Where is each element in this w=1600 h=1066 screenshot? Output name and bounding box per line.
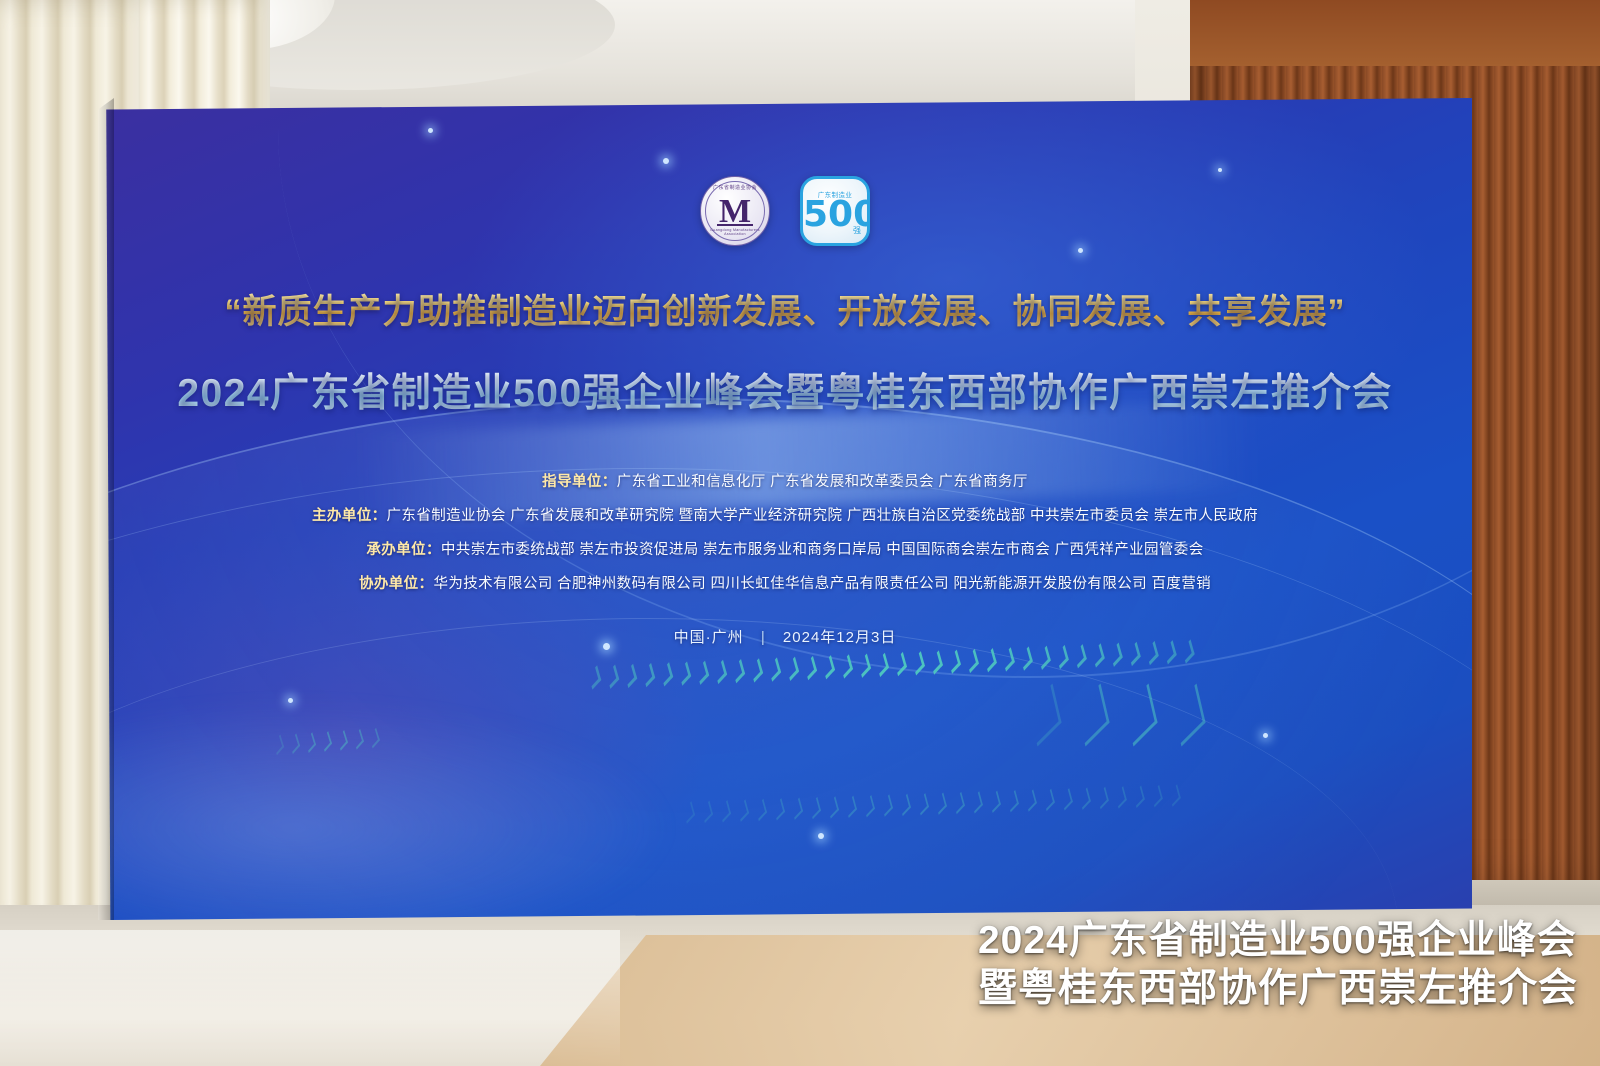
chevron-icon <box>917 793 929 815</box>
chevron-wrap <box>729 662 747 680</box>
chevron-icon <box>1002 647 1015 671</box>
chevron-icon <box>953 792 965 814</box>
chevron-icon <box>1124 683 1157 746</box>
chevron-wrap <box>837 657 855 675</box>
chevron-wrap <box>586 668 604 686</box>
backdrop-board-left-edge <box>98 98 114 920</box>
chevron-icon <box>678 661 691 685</box>
organizer-value: 中共崇左市委统战部 崇左市投资促进局 崇左市服务业和商务口岸局 中国国际商会崇左… <box>441 542 1204 558</box>
chevron-wrap <box>986 793 1003 810</box>
chevron-wrap <box>909 654 927 672</box>
chevron-icon <box>1043 789 1055 811</box>
chevron-wrap <box>681 804 698 821</box>
chevron-wrap <box>915 796 932 813</box>
chevron-row-large <box>1028 698 1206 732</box>
spark-dot <box>1078 248 1083 253</box>
chevron-wrap <box>676 664 694 682</box>
organizer-line: 协办单位：华为技术有限公司 合肥神州数码有限公司 四川长虹佳华信息产品有限责任公… <box>98 572 1472 593</box>
organizer-label: 协办单位： <box>359 576 434 592</box>
chevron-wrap <box>1017 649 1035 667</box>
chevron-wrap <box>963 652 981 670</box>
chevron-icon <box>827 796 839 818</box>
chevron-wrap <box>622 667 640 685</box>
chevron-icon <box>822 655 835 679</box>
organizer-label: 指导单位： <box>542 474 617 490</box>
chevron-icon <box>732 659 745 683</box>
chevron-wrap <box>855 656 873 674</box>
chevron-icon <box>912 651 925 675</box>
chevron-wrap <box>1022 792 1039 809</box>
organizer-label: 主办单位： <box>312 508 387 524</box>
chevron-wrap <box>1130 788 1147 805</box>
chevron-icon <box>1115 786 1127 808</box>
chevron-icon <box>971 791 983 813</box>
chevron-icon <box>660 662 673 686</box>
caption-line-1: 2024广东省制造业500强企业峰会 <box>978 917 1578 966</box>
chevron-wrap <box>1148 788 1165 805</box>
chevron-wrap <box>1107 646 1125 664</box>
spark-dot <box>1218 168 1222 172</box>
chevron-wrap <box>861 798 878 815</box>
organizer-line: 主办单位：广东省制造业协会 广东省发展和改革研究院 暨南大学产业经济研究院 广西… <box>98 504 1472 525</box>
chevron-wrap <box>1112 789 1129 806</box>
chevron-icon <box>1133 786 1145 808</box>
chevron-wrap <box>658 665 676 683</box>
event-title: 2024广东省制造业500强企业峰会暨粤桂东西部协作广西崇左推介会 <box>98 362 1472 418</box>
chevron-wrap <box>789 800 806 817</box>
event-location: 中国·广州 <box>674 629 744 646</box>
chevron-icon <box>930 650 943 674</box>
chevron-icon <box>1172 683 1205 746</box>
chevron-icon <box>1056 645 1069 669</box>
chevron-icon <box>791 797 803 819</box>
chevron-icon <box>719 800 731 822</box>
chevron-wrap <box>951 795 968 812</box>
chevron-icon <box>773 798 785 820</box>
organizer-value: 华为技术有限公司 合肥神州数码有限公司 四川长虹佳华信息产品有限责任公司 阳光新… <box>433 576 1211 592</box>
chevron-wrap <box>699 803 716 820</box>
chevron-wrap <box>897 796 914 813</box>
chevron-wrap <box>1125 645 1143 663</box>
chevron-wrap <box>1094 790 1111 807</box>
chevron-wrap <box>801 659 819 677</box>
chevron-icon <box>840 654 853 678</box>
chevron-icon <box>1007 790 1019 812</box>
chevron-icon <box>894 652 907 676</box>
glow-bottom-left <box>98 698 678 920</box>
chevron-wrap <box>981 651 999 669</box>
spark-dot <box>428 128 433 133</box>
organizer-value: 广东省制造业协会 广东省发展和改革研究院 暨南大学产业经济研究院 广西壮族自治区… <box>387 508 1258 524</box>
chevron-wrap <box>771 801 788 818</box>
event-slogan: “新质生产力助推制造业迈向创新发展、开放发展、协同发展、共享发展” <box>98 284 1472 333</box>
chevron-wrap <box>1035 649 1053 667</box>
guangdong-manufacturers-association-logo-icon: 广东省制造业协会 M Guangdong Manufacturers Assoc… <box>700 176 770 246</box>
chevron-wrap <box>753 801 770 818</box>
wood-wall-header <box>1190 0 1600 66</box>
chevron-wrap <box>1004 793 1021 810</box>
chevron-icon <box>1151 785 1163 807</box>
chevron-wrap <box>640 666 658 684</box>
chevron-wrap <box>1021 691 1069 739</box>
organizer-label: 承办单位： <box>366 542 441 558</box>
chevron-wrap <box>1053 648 1071 666</box>
spark-dot <box>818 833 824 839</box>
chevron-wrap <box>1165 691 1213 739</box>
chevron-icon <box>714 660 727 684</box>
logo-divider <box>717 224 753 226</box>
chevron-icon <box>899 794 911 816</box>
chevron-wrap <box>999 650 1017 668</box>
chevron-icon <box>737 799 749 821</box>
chevron-wrap <box>807 800 824 817</box>
chevron-icon <box>948 650 961 674</box>
organizer-value: 广东省工业和信息化厅 广东省发展和改革委员会 广东省商务厅 <box>617 474 1028 490</box>
chevron-wrap <box>1117 691 1165 739</box>
chevron-wrap <box>945 653 963 671</box>
floor-reflection <box>0 930 620 1066</box>
chevron-wrap <box>783 660 801 678</box>
spark-dot <box>1263 733 1268 738</box>
caption-line-2: 暨粤桂东西部协作广西崇左推介会 <box>978 965 1578 1014</box>
chevron-icon <box>786 657 799 681</box>
chevron-wrap <box>1166 787 1183 804</box>
chevron-icon <box>1038 646 1051 670</box>
chevron-wrap <box>933 795 950 812</box>
chevron-icon <box>1076 683 1109 746</box>
event-location-date: 中国·广州 | 2024年12月3日 <box>98 626 1472 647</box>
chevron-wrap <box>873 656 891 674</box>
chevron-icon <box>858 653 871 677</box>
chevron-icon <box>989 791 1001 813</box>
chevron-icon <box>1028 683 1061 746</box>
chevron-wrap <box>747 661 765 679</box>
chevron-icon <box>863 795 875 817</box>
organizer-line: 承办单位：中共崇左市委统战部 崇左市投资促进局 崇左市服务业和商务口岸局 中国国… <box>98 538 1472 559</box>
chevron-icon <box>1079 787 1091 809</box>
chevron-wrap <box>879 797 896 814</box>
chevron-icon <box>1169 784 1181 806</box>
logo-bottom-text: Guangdong Manufacturers Association <box>701 228 769 236</box>
chevron-wrap <box>843 798 860 815</box>
chevron-icon <box>696 661 709 685</box>
chevron-icon <box>701 801 713 823</box>
chevron-icon <box>984 648 997 672</box>
chevron-wrap <box>765 660 783 678</box>
spark-dot <box>663 158 669 164</box>
chevron-icon <box>624 664 637 688</box>
chevron-wrap <box>1089 646 1107 664</box>
chevron-icon <box>642 663 655 687</box>
chevron-icon <box>845 796 857 818</box>
chevron-wrap <box>819 658 837 676</box>
event-backdrop-scene: 广东省制造业协会 M Guangdong Manufacturers Assoc… <box>0 0 1600 1066</box>
chevron-icon <box>1074 644 1087 668</box>
chevron-icon <box>683 801 695 823</box>
chevron-icon <box>588 665 601 689</box>
chevron-icon <box>1025 789 1037 811</box>
chevron-wrap <box>1071 647 1089 665</box>
chevron-icon <box>1061 788 1073 810</box>
badge-suffix: 强 <box>853 225 861 236</box>
chevron-icon <box>809 797 821 819</box>
chevron-row-top <box>588 645 1195 684</box>
chevron-wrap <box>891 655 909 673</box>
chevron-wrap <box>693 664 711 682</box>
logo-top-text: 广东省制造业协会 <box>701 184 769 191</box>
chevron-wrap <box>604 667 622 685</box>
organizer-line: 指导单位：广东省工业和信息化厅 广东省发展和改革委员会 广东省商务厅 <box>98 470 1472 491</box>
chevron-row-bottom <box>683 789 1181 818</box>
chevron-icon <box>768 657 781 681</box>
chevron-icon <box>876 653 889 677</box>
caption-overlay: 2024广东省制造业500强企业峰会 暨粤桂东西部协作广西崇左推介会 <box>978 917 1578 1015</box>
chevron-icon <box>935 792 947 814</box>
chevron-wrap <box>717 803 734 820</box>
logo-group: 广东省制造业协会 M Guangdong Manufacturers Assoc… <box>98 176 1472 246</box>
chevron-icon <box>755 799 767 821</box>
top-500-badge-logo-icon: 广东制造业 500 强 <box>800 176 870 246</box>
chevron-icon <box>881 794 893 816</box>
chevron-icon <box>804 656 817 680</box>
chevron-icon <box>966 649 979 673</box>
chevron-wrap <box>927 653 945 671</box>
chevron-wrap <box>968 794 985 811</box>
chevron-wrap <box>1069 691 1117 739</box>
chevron-wrap <box>1040 791 1057 808</box>
chevron-wrap <box>1076 790 1093 807</box>
chevron-wrap <box>711 663 729 681</box>
chevron-wrap <box>735 802 752 819</box>
chevron-icon <box>606 664 619 688</box>
separator: | <box>761 629 766 646</box>
spark-dot <box>288 698 293 703</box>
chevron-icon <box>750 658 763 682</box>
chevron-icon <box>1020 646 1033 670</box>
chevron-icon <box>1097 787 1109 809</box>
backdrop-board: 广东省制造业协会 M Guangdong Manufacturers Assoc… <box>98 98 1472 920</box>
chevron-wrap <box>825 799 842 816</box>
organizer-unit-list: 指导单位：广东省工业和信息化厅 广东省发展和改革委员会 广东省商务厅 主办单位：… <box>98 470 1472 606</box>
event-date: 2024年12月3日 <box>783 629 896 646</box>
chevron-wrap <box>1058 791 1075 808</box>
